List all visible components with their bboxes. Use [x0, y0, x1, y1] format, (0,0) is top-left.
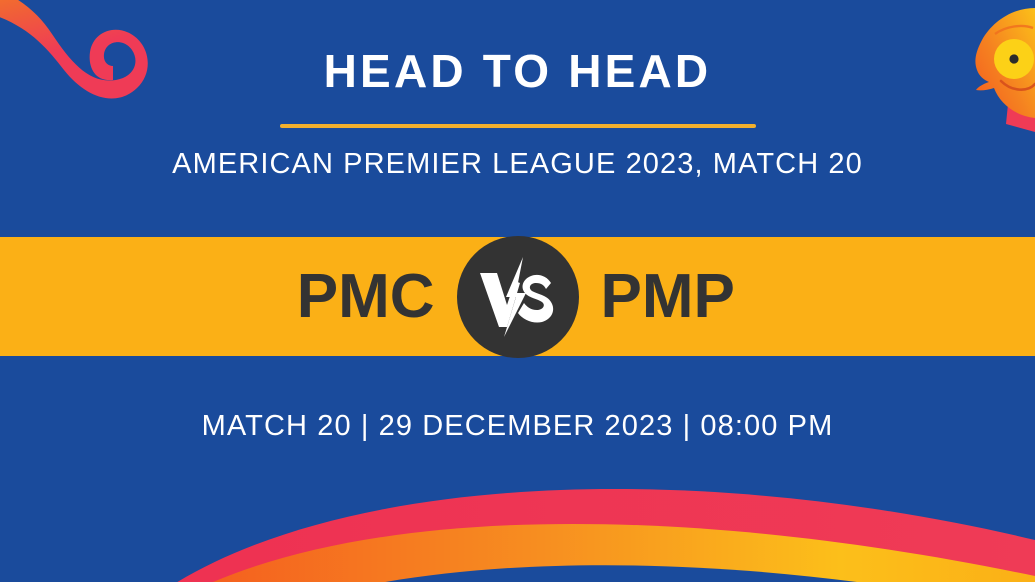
headline-block: HEAD TO HEAD AMERICAN PREMIER LEAGUE 202… [0, 48, 1035, 179]
away-team-code: PMP [579, 266, 811, 328]
match-details: MATCH 20 | 29 DECEMBER 2023 | 08:00 PM [0, 412, 1035, 441]
gold-divider [280, 124, 756, 128]
tournament-subtitle: AMERICAN PREMIER LEAGUE 2023, MATCH 20 [0, 150, 1035, 179]
page-title: HEAD TO HEAD [0, 48, 1035, 94]
vs-badge [457, 236, 579, 358]
vs-lightning-icon [474, 253, 562, 341]
bottom-ribbon-arcs [150, 489, 1035, 582]
head-to-head-poster: HEAD TO HEAD AMERICAN PREMIER LEAGUE 202… [0, 0, 1035, 582]
versus-row: PMC PMP [0, 237, 1035, 356]
home-team-code: PMC [225, 266, 457, 328]
